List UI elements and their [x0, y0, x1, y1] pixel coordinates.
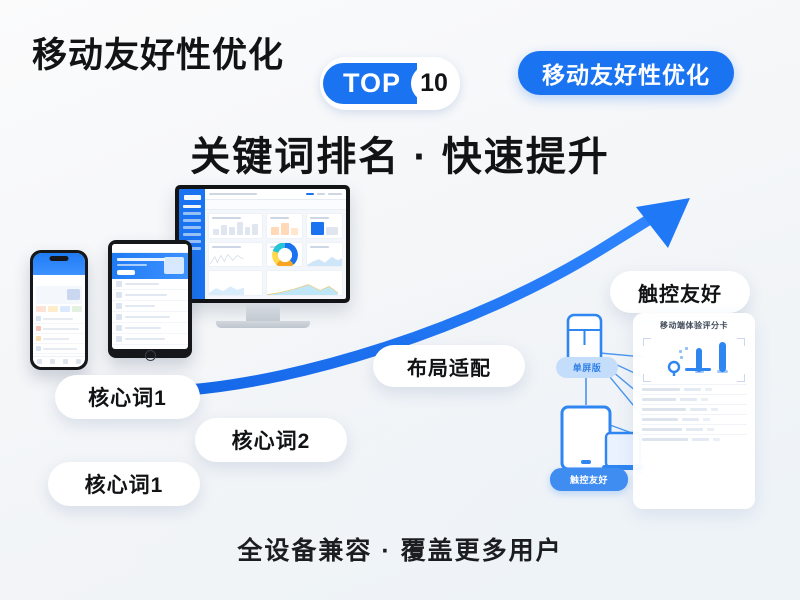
dashboard-card: [266, 213, 303, 239]
card-bars: [213, 217, 258, 235]
tablet-banner: [112, 253, 188, 279]
phone-search-bar[interactable]: [37, 276, 81, 284]
topbar-action: [306, 193, 314, 195]
banner-title: [117, 258, 165, 261]
keyword-pill[interactable]: 核心词1: [55, 375, 200, 419]
score-card: 移动端体验评分卡: [633, 313, 755, 509]
sidebar-nav-item: [183, 226, 201, 229]
tablet-list-item: [112, 323, 188, 334]
sidebar-nav-item: [183, 233, 201, 236]
dashboard-card: [306, 242, 343, 268]
banner-image: [164, 257, 184, 274]
phone-tabbar[interactable]: [33, 356, 85, 367]
topbar-breadcrumb: [209, 193, 257, 195]
dashboard-card: [306, 213, 343, 239]
mini-pill-single-screen[interactable]: 单屏版: [556, 357, 618, 378]
phone-list-item: [33, 324, 85, 334]
topbar-action: [317, 193, 325, 195]
top-rank-label: TOP: [323, 63, 417, 104]
tablet-list-item: [112, 279, 188, 290]
tablet-device: [108, 240, 192, 358]
score-row: [641, 424, 747, 434]
phone-device: [30, 250, 88, 370]
card-linechart: [209, 252, 245, 266]
footer-tagline: 全设备兼容 · 覆盖更多用户: [0, 531, 800, 567]
top-rank-number: 10: [411, 63, 457, 104]
card-areachart: [307, 252, 343, 266]
header-tag-pill: 移动友好性优化: [518, 51, 734, 95]
sidebar-nav-item: [183, 212, 201, 215]
feature-pill-layout[interactable]: 布局适配: [373, 345, 525, 387]
score-bars: [641, 336, 747, 384]
tablet-list-item: [112, 290, 188, 301]
poster-canvas: 移动友好性优化 TOP 10 移动友好性优化 关键词排名 · 快速提升: [0, 0, 800, 600]
dashboard-ui: [179, 189, 346, 299]
page-kicker: 移动友好性优化: [32, 27, 284, 78]
tablet-list-item: [112, 334, 188, 345]
card-areachart: [267, 281, 338, 295]
dashboard-card: [208, 270, 263, 296]
phone-screen: [33, 253, 85, 367]
monitor-stand-base: [216, 321, 310, 328]
monitor-stand-neck: [246, 303, 280, 321]
tablet-list-item: [112, 301, 188, 312]
top-rank-badge: TOP 10: [320, 57, 460, 110]
score-card-chart: [641, 336, 747, 384]
score-row: [641, 434, 747, 444]
score-row: [641, 414, 747, 424]
card-bars: [271, 217, 298, 235]
card-heading: [212, 246, 241, 248]
score-card-title: 移动端体验评分卡: [641, 320, 747, 331]
topbar-user: [328, 193, 342, 195]
promo-thumbnail: [67, 289, 80, 300]
dashboard-main: [205, 189, 346, 299]
card-bars: [311, 217, 338, 235]
dashboard-card: [266, 242, 303, 268]
mini-pill-touch-friendly[interactable]: 触控友好: [550, 468, 628, 491]
keyword-pill[interactable]: 核心词1: [48, 462, 200, 506]
phone-list-item: [33, 314, 85, 324]
tablet-list-item: [112, 312, 188, 323]
dashboard-subbar: [205, 200, 346, 210]
score-row: [641, 384, 747, 394]
sidebar-nav-item: [183, 205, 201, 208]
page-title: 关键词排名 · 快速提升: [0, 124, 800, 182]
dashboard-card: [208, 242, 263, 268]
phone-category-chips: [33, 306, 85, 314]
phone-list-item: [33, 334, 85, 344]
desktop-monitor: [175, 185, 350, 328]
banner-subtitle: [117, 264, 147, 266]
monitor-screen: [175, 185, 350, 303]
card-heading: [310, 246, 329, 248]
dashboard-logo: [184, 195, 201, 200]
card-areachart: [209, 281, 244, 295]
phone-notch: [50, 256, 69, 261]
dashboard-card: [208, 213, 263, 239]
dashboard-card: [266, 270, 343, 296]
dashboard-cards: [205, 210, 346, 299]
phone-promo-card: [36, 286, 82, 304]
device-mockups: [20, 185, 340, 370]
banner-button: [117, 270, 135, 275]
phone-list-item: [33, 344, 85, 354]
dashboard-topbar: [205, 189, 346, 200]
tablet-statusbar: [112, 244, 188, 253]
mobile-experience-illustration: 移动端体验评分卡: [548, 305, 763, 515]
score-row: [641, 394, 747, 404]
tablet-screen: [112, 244, 188, 349]
keyword-pill[interactable]: 核心词2: [195, 418, 347, 462]
score-row: [641, 404, 747, 414]
card-donut-chart: [272, 242, 298, 267]
tablet-home-button[interactable]: [145, 350, 156, 361]
sidebar-nav-item: [183, 219, 201, 222]
